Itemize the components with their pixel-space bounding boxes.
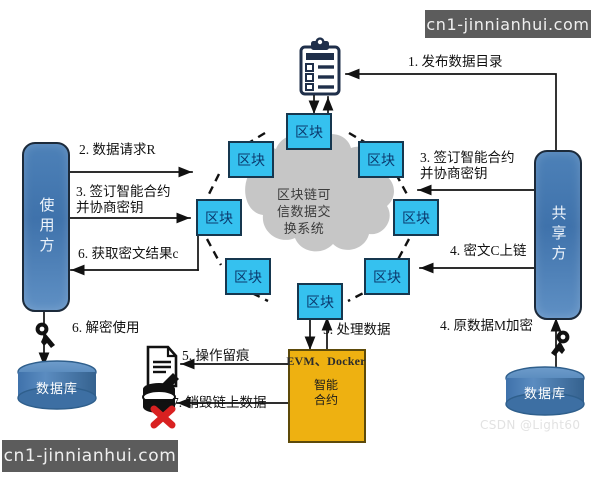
- contract-label-line-2: 合约: [303, 393, 349, 408]
- clipboard-checklist-icon: [301, 39, 339, 94]
- smart-contract-label: 智能 合约: [303, 378, 349, 408]
- block-node-upper-left[interactable]: 区块: [228, 141, 274, 178]
- step-3-right-label: 3. 签订智能合约 并协商密钥: [420, 150, 515, 182]
- block-node-mid-left[interactable]: 区块: [196, 199, 242, 236]
- sharer-party[interactable]: 共享方: [534, 150, 582, 320]
- watermark-top: cn1-jinnianhui.com: [425, 10, 591, 38]
- block-node-upper-right[interactable]: 区块: [358, 141, 404, 178]
- step-4-encrypt-label: 4. 原数据M加密: [440, 318, 533, 334]
- step-3-left-label: 3. 签订智能合约 并协商密钥: [76, 184, 171, 216]
- block-node-lower-left[interactable]: 区块: [225, 258, 271, 295]
- step-2-label: 2. 数据请求R: [79, 142, 156, 158]
- sharer-database-label: 数据库: [508, 383, 582, 402]
- watermark-bottom: cn1-jinnianhui.com: [2, 440, 178, 472]
- step-1-label: 1. 发布数据目录: [408, 54, 503, 70]
- cloud-label-line-2: 信数据交: [256, 203, 352, 220]
- step-4-cipher-label: 4. 密文C上链: [450, 243, 527, 259]
- contract-engine-label: EVM、Docker: [286, 352, 366, 369]
- contract-label-line-1: 智能: [303, 378, 349, 393]
- step-6-result-label: 6. 获取密文结果c: [78, 246, 179, 262]
- block-node-bottom-center[interactable]: 区块: [297, 283, 343, 320]
- key-icon: [551, 331, 569, 356]
- cloud-system-label: 区块链可 信数据交 换系统: [256, 186, 352, 237]
- block-node-lower-right[interactable]: 区块: [364, 258, 410, 295]
- block-node-top-center[interactable]: 区块: [286, 113, 332, 150]
- cloud-label-line-3: 换系统: [256, 220, 352, 237]
- step-5-trace-label: 5. 操作留痕: [182, 348, 250, 364]
- user-party[interactable]: 使用方: [22, 142, 70, 312]
- cloud-label-line-1: 区块链可: [256, 186, 352, 203]
- watermark-csdn: CSDN @Light60: [480, 418, 580, 432]
- step-6-decrypt-label: 6. 解密使用: [72, 320, 140, 336]
- step-7-destroy-label: 7. 销毁链上数据: [172, 395, 267, 411]
- key-icon: [36, 323, 55, 348]
- arrow-step1: [346, 74, 556, 150]
- user-database-label: 数据库: [20, 378, 94, 397]
- database-destroy-icon: [143, 383, 175, 425]
- block-node-mid-right[interactable]: 区块: [393, 199, 439, 236]
- step-5-process-label: 5. 处理数据: [323, 322, 391, 338]
- diagram-canvas: 使用方 共享方 区块 区块 区块 区块 区块 区块 区块 区块 区块链可 信数据…: [0, 0, 600, 480]
